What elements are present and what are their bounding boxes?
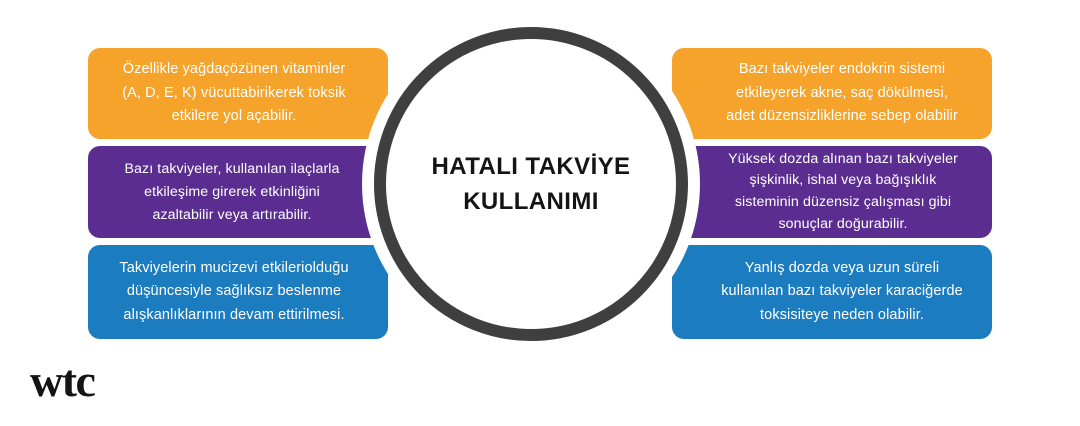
panel-right-1-line: etkileyerek akne, saç dökülmesi,	[706, 82, 978, 105]
panel-right-3: Yanlış dozda veya uzun sürelikullanılan …	[672, 245, 992, 339]
panel-left-2-line: etkileşime girerek etkinliğini	[102, 181, 362, 204]
panel-right-2-line: sisteminin düzensiz çalışması gibi	[708, 192, 978, 214]
wtc-logo: wtc	[30, 358, 94, 404]
panel-right-1: Bazı takviyeler endokrin sistemietkileye…	[672, 48, 992, 139]
panel-right-3-line: toksisiteye neden olabilir.	[706, 304, 978, 327]
panel-left-3: Takviyelerin mucizevi etkileriolduğudüşü…	[88, 245, 388, 339]
panel-right-3-line: kullanılan bazı takviyeler karaciğerde	[706, 280, 978, 303]
panel-left-1: Özellikle yağdaçözünen vitaminler(A, D, …	[88, 48, 388, 139]
center-title-line-1: HATALI TAKVİYE	[394, 150, 668, 185]
panel-left-3-line: düşüncesiyle sağlıksız beslenme	[102, 280, 366, 303]
panel-right-1-line: adet düzensizliklerine sebep olabilir	[706, 105, 978, 128]
panel-right-1-text: Bazı takviyeler endokrin sistemietkileye…	[706, 58, 978, 128]
panel-right-2-text: Yüksek dozda alınan bazı takviyelerşişki…	[708, 149, 978, 235]
panel-left-1-text: Özellikle yağdaçözünen vitaminler(A, D, …	[102, 58, 366, 128]
panel-left-1-line: etkilere yol açabilir.	[102, 105, 366, 128]
panel-left-1-line: (A, D, E, K) vücuttabirikerek toksik	[102, 82, 366, 105]
panel-right-3-line: Yanlış dozda veya uzun süreli	[706, 257, 978, 280]
panel-left-2-line: azaltabilir veya artırabilir.	[102, 204, 362, 227]
center-title: HATALI TAKVİYE KULLANIMI	[394, 150, 668, 220]
panel-right-2: Yüksek dozda alınan bazı takviyelerşişki…	[672, 146, 992, 238]
panel-right-2-line: sonuçlar doğurabilir.	[708, 214, 978, 236]
panel-right-2-line: Yüksek dozda alınan bazı takviyeler	[708, 149, 978, 171]
panel-left-3-line: Takviyelerin mucizevi etkileriolduğu	[102, 257, 366, 280]
panel-left-2: Bazı takviyeler, kullanılan ilaçlarlaetk…	[88, 146, 388, 238]
panel-left-3-text: Takviyelerin mucizevi etkileriolduğudüşü…	[102, 257, 366, 327]
panel-left-2-line: Bazı takviyeler, kullanılan ilaçlarla	[102, 158, 362, 181]
panel-right-2-line: şişkinlik, ishal veya bağışıklık	[708, 170, 978, 192]
infographic-canvas: Özellikle yağdaçözünen vitaminler(A, D, …	[0, 0, 1080, 426]
panel-right-3-text: Yanlış dozda veya uzun sürelikullanılan …	[706, 257, 978, 327]
center-title-line-2: KULLANIMI	[394, 185, 668, 220]
panel-left-1-line: Özellikle yağdaçözünen vitaminler	[102, 58, 366, 81]
panel-right-1-line: Bazı takviyeler endokrin sistemi	[706, 58, 978, 81]
panel-left-2-text: Bazı takviyeler, kullanılan ilaçlarlaetk…	[102, 158, 362, 227]
panel-left-3-line: alışkanlıklarının devam ettirilmesi.	[102, 304, 366, 327]
